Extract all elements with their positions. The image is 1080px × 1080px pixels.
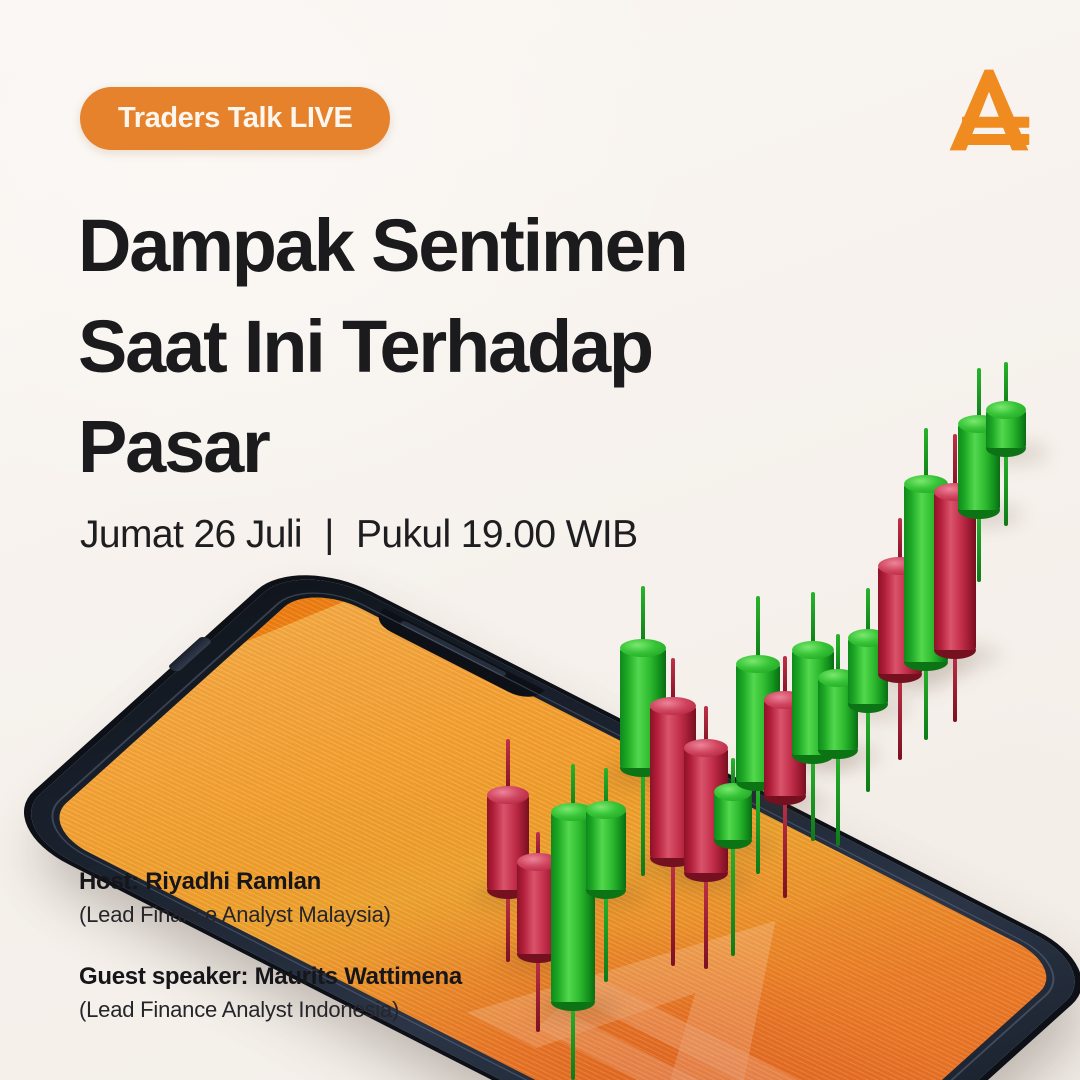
- brand-a-logo-icon: [940, 62, 1036, 158]
- speaker-credits: Host: Riyadhi Ramlan (Lead Finance Analy…: [79, 866, 599, 1026]
- schedule-separator: |: [324, 513, 334, 557]
- page-title: Dampak Sentimen Saat Ini Terhadap Pasar: [78, 196, 818, 498]
- headline-line-2: Saat Ini Terhadap: [78, 297, 818, 398]
- headline-line-3: Pasar: [78, 397, 818, 498]
- event-time: Pukul 19.00 WIB: [356, 513, 637, 556]
- credit-guest: Guest speaker: Maurits Wattimena (Lead F…: [79, 961, 599, 1026]
- credit-guest-role: (Lead Finance Analyst Indonesia): [79, 993, 599, 1026]
- live-badge: Traders Talk LIVE: [80, 87, 390, 150]
- credit-host-role: (Lead Finance Analyst Malaysia): [79, 898, 599, 931]
- promo-poster: Traders Talk LIVE Dampak Sentimen Saat I…: [0, 0, 1080, 1080]
- event-schedule: Jumat 26 Juli | Pukul 19.00 WIB: [80, 513, 638, 557]
- credit-host-name: Host: Riyadhi Ramlan: [79, 866, 599, 898]
- event-date: Jumat 26 Juli: [80, 513, 302, 556]
- credit-host: Host: Riyadhi Ramlan (Lead Finance Analy…: [79, 866, 599, 931]
- headline-line-1: Dampak Sentimen: [78, 196, 818, 297]
- credit-guest-name: Guest speaker: Maurits Wattimena: [79, 961, 599, 993]
- live-badge-label: Traders Talk LIVE: [118, 102, 352, 135]
